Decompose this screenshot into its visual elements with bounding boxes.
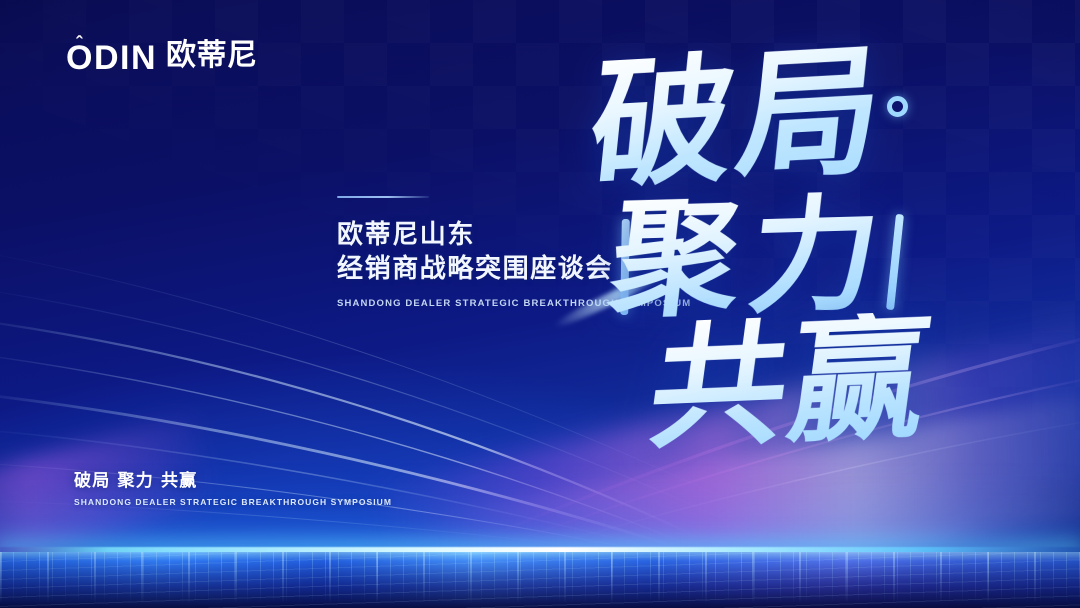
footer-tagline-chinese: 破局 聚力 共赢 — [74, 466, 392, 491]
logo-din-text: DIN — [94, 39, 157, 77]
hero-calligraphy: 破局 聚力 共赢 — [560, 44, 1030, 464]
footer-tagline-english: SHANDONG DEALER STRATEGIC BREAKTHROUGH S… — [74, 497, 392, 507]
horizon-glow — [0, 500, 1080, 570]
footer-tagline: 破局 聚力 共赢 SHANDONG DEALER STRATEGIC BREAK… — [74, 466, 392, 507]
horizon-light-line — [0, 547, 1080, 553]
logo-wordmark: ˆODIN — [66, 36, 157, 75]
degree-ring-icon — [887, 96, 908, 117]
title-divider-rule — [337, 196, 429, 198]
brand-logo: ˆODIN 欧蒂尼 — [66, 36, 258, 75]
floor-perspective-lines — [0, 552, 1080, 608]
logo-circumflex-icon: ˆ — [76, 35, 84, 54]
floor-streaks — [0, 552, 1080, 608]
logo-chinese-name: 欧蒂尼 — [166, 41, 258, 71]
floor-streaks-wide — [0, 552, 1080, 608]
hero-slogan-line-1: 破局 — [584, 40, 893, 198]
hero-slogan-line-3: 共赢 — [642, 310, 938, 457]
floor-reflection — [0, 552, 1080, 608]
logo-letter-o: ˆO — [66, 36, 94, 75]
event-backdrop-poster: ˆODIN 欧蒂尼 欧蒂尼山东 经销商战略突围座谈会 SHANDONG DEAL… — [0, 0, 1080, 608]
